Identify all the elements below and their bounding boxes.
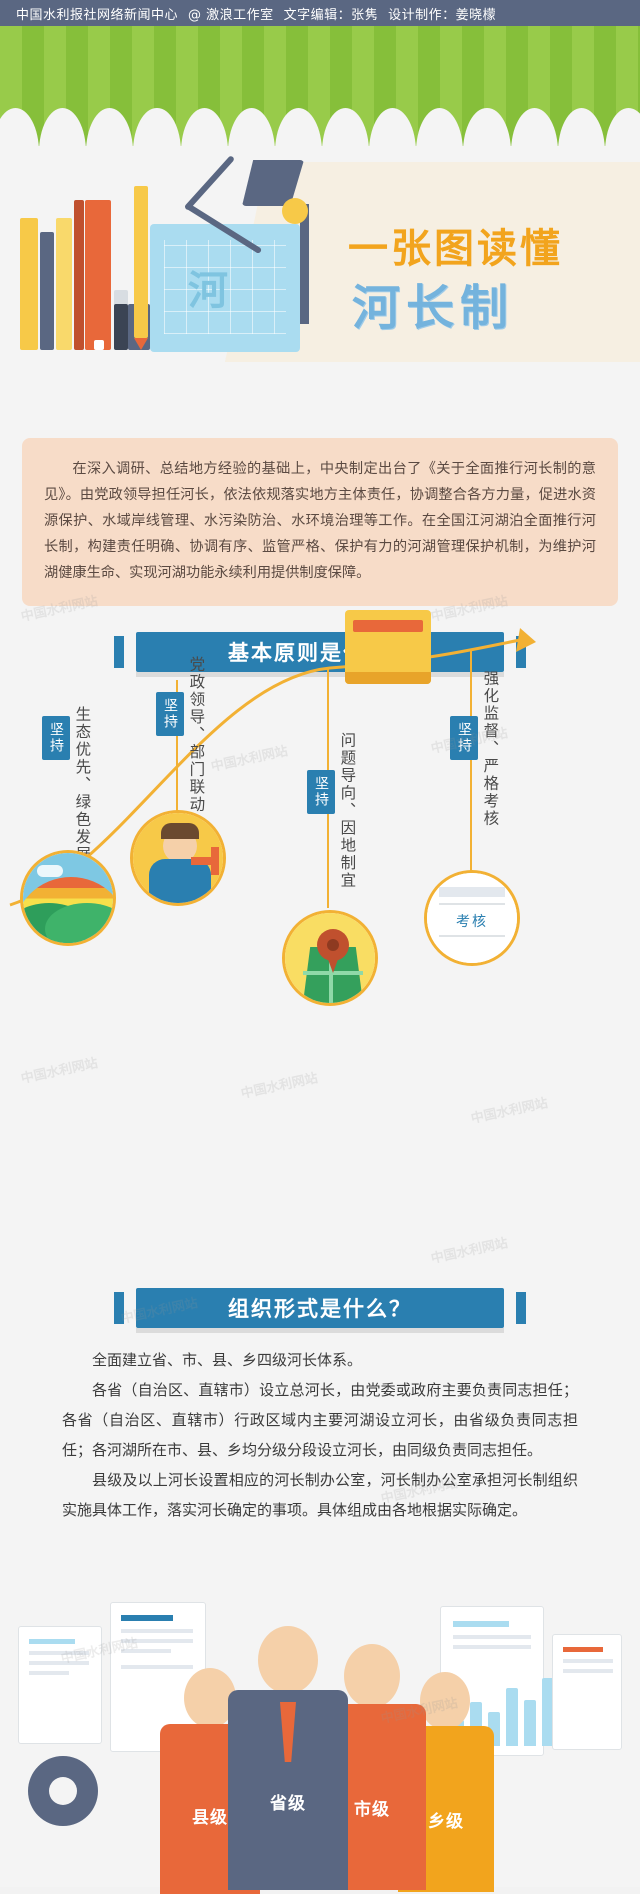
book-icon [345, 610, 431, 684]
assessment-label: 考核 [427, 911, 517, 931]
intro-paragraph: 在深入调研、总结地方经验的基础上，中央制定出台了《关于全面推行河长制的意见》。由… [22, 438, 618, 606]
principle-label-3: 问题导向、因地制宜 [337, 732, 356, 890]
book-icon [40, 232, 54, 350]
book-icon [114, 304, 128, 350]
watermark: 中国水利网站 [239, 1067, 319, 1102]
credit-designer: 设计制作：姜晓檬 [388, 4, 496, 23]
credit-source: 中国水利报社网络新闻中心 [16, 4, 178, 23]
principle-badge-2: 坚持 [156, 692, 184, 736]
page-title-sub: 河长制 [352, 268, 514, 338]
book-icon [20, 218, 38, 350]
section-header-organization: 组织形式是什么？ [110, 1288, 530, 1328]
ribbon-bar: 组织形式是什么？ [136, 1288, 504, 1328]
assessment-icon: 考核 [424, 870, 520, 966]
org-line: 全面建立省、市、县、乡四级河长体系。 [62, 1345, 578, 1375]
principle-label-4: 强化监督、严格考核 [480, 670, 499, 828]
credit-editor: 文字编辑：张隽 [284, 4, 379, 23]
desk-illustration: 河 [10, 130, 310, 380]
principles-chart: 坚持 生态优先、绿色发展 坚持 党政领导、部门联动 坚持 问题导向、因地制宜 坚… [0, 620, 640, 1040]
watermark: 中国水利网站 [469, 1092, 549, 1127]
level-label-township: 乡级 [422, 1812, 470, 1832]
bottom-illustration: 县级 乡级 市级 省级 [0, 1560, 640, 1887]
principle-badge-3: 坚持 [307, 770, 335, 814]
org-line: 县级及以上河长设置相应的河长制办公室，河长制办公室承担河长制组织实施具体工作，落… [62, 1465, 578, 1525]
pencil-icon [134, 186, 148, 338]
ribbon-cap-left [114, 1292, 124, 1324]
document-icon [552, 1634, 622, 1750]
principle-badge-4: 坚持 [450, 716, 478, 760]
credit-bar: 中国水利报社网络新闻中心 @ 激浪工作室 文字编辑：张隽 设计制作：姜晓檬 [0, 0, 640, 26]
watermark: 中国水利网站 [19, 1052, 99, 1087]
map-pin-icon [282, 910, 378, 1006]
principle-label-2: 党政领导、部门联动 [186, 656, 205, 814]
blueprint-icon: 河 [150, 224, 300, 352]
ribbon-cap-right [516, 1292, 526, 1324]
watermark: 中国水利网站 [429, 1232, 509, 1267]
organization-body: 全面建立省、市、县、乡四级河长体系。 各省（自治区、直辖市）设立总河长，由党委或… [62, 1345, 578, 1525]
person-leader-icon [130, 810, 226, 906]
gear-icon [28, 1756, 98, 1826]
lamp-arm-icon [184, 155, 235, 211]
level-label-province: 省级 [262, 1794, 314, 1814]
org-line: 各省（自治区、直辖市）设立总河长，由党委或政府主要负责同志担任；各省（自治区、直… [62, 1375, 578, 1465]
chart-stem [470, 650, 472, 875]
credit-studio: @ 激浪工作室 [188, 4, 274, 23]
section-title-text: 组织形式是什么？ [228, 1293, 412, 1323]
book-icon [74, 200, 84, 350]
document-icon [18, 1626, 102, 1744]
principle-badge-1: 坚持 [42, 716, 70, 760]
hero-section: 河 一张图读懂 河长制 [0, 120, 640, 390]
page-title-main: 一张图读懂 [348, 216, 563, 274]
ribbon-shadow [136, 1328, 504, 1333]
lamp-bulb-icon [282, 198, 308, 224]
landscape-rainbow-icon [20, 850, 116, 946]
level-label-county: 县级 [186, 1808, 234, 1828]
book-icon [85, 200, 111, 350]
blueprint-char: 河 [188, 258, 228, 316]
book-label-icon [94, 340, 104, 350]
level-label-city: 市级 [346, 1800, 398, 1820]
book-icon [56, 218, 72, 350]
principle-label-1: 生态优先、绿色发展 [72, 706, 91, 864]
